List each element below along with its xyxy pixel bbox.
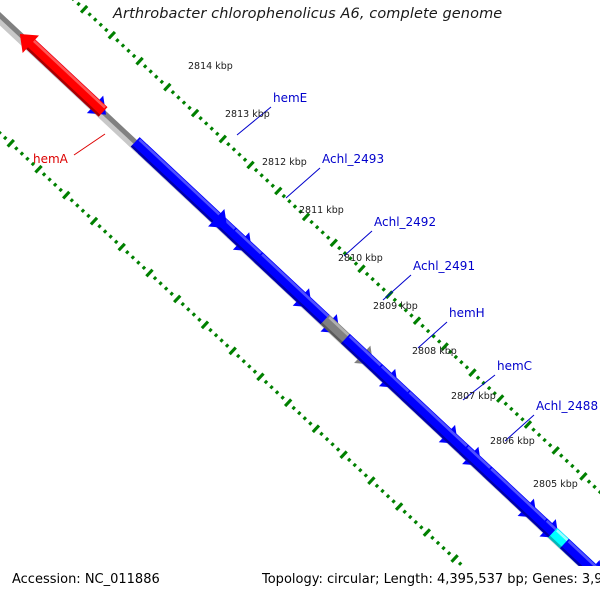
tick-minor — [294, 205, 296, 207]
tick-minor — [404, 511, 406, 513]
ruler-tick-label: 2811 kbp — [299, 205, 344, 216]
tick-minor — [165, 287, 167, 289]
tick-major — [424, 529, 430, 536]
ruler-tick-label: 2812 kbp — [262, 157, 307, 168]
tick-minor — [421, 325, 423, 327]
tick-minor — [270, 386, 272, 388]
tick-major — [396, 503, 402, 510]
tick-minor — [154, 277, 156, 279]
label-leader-line — [286, 168, 320, 198]
tick-major — [257, 374, 263, 381]
tick-minor — [21, 152, 23, 154]
tick-minor — [226, 344, 228, 346]
tick-minor — [105, 29, 107, 31]
gene-label-Achl_2491[interactable]: Achl_2491 — [413, 259, 475, 273]
tick-minor — [588, 480, 590, 482]
tick-minor — [182, 303, 184, 305]
tick-minor — [377, 283, 379, 285]
tick-major — [220, 136, 226, 143]
tick-minor — [366, 273, 368, 275]
tick-minor — [60, 189, 62, 191]
tick-minor — [87, 215, 89, 217]
tick-minor — [209, 329, 211, 331]
tick-minor — [172, 91, 174, 93]
tick-minor — [566, 460, 568, 462]
tick-minor — [409, 516, 411, 518]
tick-minor — [48, 178, 50, 180]
tick-minor — [215, 334, 217, 336]
tick-minor — [288, 200, 290, 202]
tick-minor — [532, 428, 534, 430]
tick-minor — [338, 247, 340, 249]
gene-arrow-shadow — [132, 146, 213, 222]
tick-minor — [466, 366, 468, 368]
ruler-tick-label: 2808 kbp — [412, 346, 457, 357]
tick-minor — [254, 370, 256, 372]
ruler-tick-label: 2805 kbp — [533, 479, 578, 490]
tick-minor — [331, 443, 333, 445]
tick-minor — [283, 195, 285, 197]
tick-minor — [337, 448, 339, 450]
tick-minor — [71, 199, 73, 201]
tick-major — [35, 166, 41, 173]
tick-minor — [238, 153, 240, 155]
tick-minor — [188, 107, 190, 109]
tick-minor — [260, 174, 262, 176]
tick-minor — [137, 261, 139, 263]
gene-name-labels[interactable]: hemAhemEAchl_2493Achl_2492Achl_2491hemHh… — [33, 91, 598, 413]
tick-minor — [144, 65, 146, 67]
tick-major — [164, 84, 170, 91]
status-bar: Accession: NC_011886 Topology: circular;… — [0, 568, 600, 600]
tick-major — [247, 162, 253, 169]
tick-minor — [376, 485, 378, 487]
tick-major — [497, 395, 503, 402]
tick-minor — [237, 355, 239, 357]
tick-minor — [227, 143, 229, 145]
tick-minor — [98, 225, 100, 227]
gene-arrow-shadow — [254, 261, 325, 327]
tick-minor — [420, 526, 422, 528]
tick-minor — [244, 159, 246, 161]
tick-minor — [216, 133, 218, 135]
tick-major — [109, 32, 115, 39]
tick-minor — [193, 313, 195, 315]
tick-minor — [265, 381, 267, 383]
tick-minor — [143, 267, 145, 269]
tick-minor — [266, 179, 268, 181]
genome-map-canvas[interactable]: 2814 kbp2813 kbp2812 kbp2811 kbp2810 kbp… — [0, 0, 600, 600]
tick-minor — [415, 521, 417, 523]
genome-stats-text: Topology: circular; Length: 4,395,537 bp… — [262, 572, 600, 587]
tick-major — [331, 240, 337, 247]
tick-major — [81, 6, 87, 13]
tick-major — [119, 244, 125, 251]
tick-minor — [310, 221, 312, 223]
tick-major — [137, 58, 143, 65]
tick-minor — [571, 465, 573, 467]
tick-minor — [82, 209, 84, 211]
tick-minor — [392, 500, 394, 502]
gene-arrow-highlight — [139, 140, 219, 215]
tick-minor — [272, 184, 274, 186]
tick-minor — [155, 75, 157, 77]
tick-minor — [437, 542, 439, 544]
tick-minor — [459, 562, 461, 564]
tick-minor — [521, 418, 523, 420]
tick-major — [146, 270, 152, 277]
tick-minor — [320, 433, 322, 435]
gene-label-Achl_2493[interactable]: Achl_2493 — [322, 152, 384, 166]
gene-arrow[interactable] — [131, 137, 227, 228]
tick-minor — [132, 256, 134, 258]
gene-label-Achl_2492[interactable]: Achl_2492 — [374, 215, 436, 229]
label-leader-line — [383, 275, 411, 300]
gene-label-hemA[interactable]: hemA — [33, 152, 69, 166]
tick-minor — [281, 396, 283, 398]
tick-major — [469, 369, 475, 376]
tick-minor — [322, 231, 324, 233]
ruler-tick-label: 2810 kbp — [338, 253, 383, 264]
gene-arrow-highlight — [262, 254, 332, 319]
tick-minor — [26, 158, 28, 160]
tick-minor — [488, 387, 490, 389]
tick-major — [452, 555, 458, 562]
label-leader-line — [74, 134, 105, 155]
tick-minor — [438, 340, 440, 342]
tick-minor — [477, 377, 479, 379]
tick-minor — [326, 438, 328, 440]
tick-minor — [505, 403, 507, 405]
gene-arrow[interactable] — [20, 34, 108, 117]
tick-minor — [220, 339, 222, 341]
tick-minor — [116, 39, 118, 41]
tick-major — [358, 265, 364, 272]
tick-minor — [365, 474, 367, 476]
tick-minor — [4, 137, 6, 139]
tick-minor — [560, 454, 562, 456]
tick-minor — [243, 360, 245, 362]
tick-major — [202, 322, 208, 329]
tick-minor — [159, 282, 161, 284]
tick-minor — [15, 147, 17, 149]
tick-minor — [133, 55, 135, 57]
tick-minor — [109, 235, 111, 237]
tick-minor — [383, 288, 385, 290]
tick-minor — [387, 495, 389, 497]
tick-minor — [538, 434, 540, 436]
tick-major — [313, 425, 319, 432]
tick-minor — [510, 408, 512, 410]
tick-major — [91, 218, 97, 225]
tick-minor — [577, 470, 579, 472]
tick-minor — [177, 96, 179, 98]
tick-minor — [199, 117, 201, 119]
tick-minor — [54, 184, 56, 186]
tick-minor — [43, 173, 45, 175]
tick-minor — [410, 314, 412, 316]
tick-minor — [298, 412, 300, 414]
tick-minor — [255, 169, 257, 171]
tick-minor — [233, 148, 235, 150]
tick-major — [63, 192, 69, 199]
tick-minor — [88, 13, 90, 15]
tick-minor — [127, 50, 129, 52]
tick-minor — [170, 293, 172, 295]
tick-minor — [211, 127, 213, 129]
tick-minor — [359, 469, 361, 471]
tick-minor — [354, 464, 356, 466]
ruler-tick-label: 2813 kbp — [225, 109, 270, 120]
ruler-tick-label: 2814 kbp — [188, 61, 233, 72]
tick-minor — [293, 407, 295, 409]
gene-label-hemC[interactable]: hemC — [497, 359, 532, 373]
tick-minor — [94, 18, 96, 20]
tick-minor — [76, 204, 78, 206]
gene-label-hemE[interactable]: hemE — [273, 91, 307, 105]
gene-label-hemH[interactable]: hemH — [449, 306, 485, 320]
tick-minor — [543, 439, 545, 441]
ruler-tick-label: 2809 kbp — [373, 301, 418, 312]
tick-minor — [161, 81, 163, 83]
tick-minor — [100, 24, 102, 26]
gene-feature-layer[interactable] — [0, 0, 600, 600]
tick-minor — [432, 335, 434, 337]
tick-minor — [150, 70, 152, 72]
tick-major — [192, 110, 198, 117]
tick-minor — [183, 101, 185, 103]
tick-minor — [0, 132, 1, 134]
tick-minor — [115, 241, 117, 243]
tick-minor — [327, 236, 329, 238]
tick-minor — [316, 226, 318, 228]
tick-major — [414, 317, 420, 324]
tick-minor — [348, 459, 350, 461]
tick-major — [368, 477, 374, 484]
genome-title: Arthrobacter chlorophenolicus A6, comple… — [113, 6, 502, 22]
ruler-tick-labels: 2814 kbp2813 kbp2812 kbp2811 kbp2810 kbp… — [188, 61, 578, 490]
tick-minor — [104, 230, 106, 232]
tick-minor — [304, 417, 306, 419]
tick-major — [285, 399, 291, 406]
accession-text: Accession: NC_011886 — [12, 572, 160, 587]
ruler-tick-label: 2807 kbp — [451, 391, 496, 402]
tick-minor — [309, 422, 311, 424]
tick-minor — [516, 413, 518, 415]
tick-minor — [205, 122, 207, 124]
tick-minor — [593, 486, 595, 488]
genome-map-viewer[interactable]: 2814 kbp2813 kbp2812 kbp2811 kbp2810 kbp… — [0, 0, 600, 600]
tick-minor — [276, 391, 278, 393]
tick-minor — [431, 536, 433, 538]
tick-major — [8, 140, 14, 147]
tick-major — [580, 473, 586, 480]
tick-minor — [198, 318, 200, 320]
tick-minor — [460, 361, 462, 363]
ruler-tick-label: 2806 kbp — [490, 436, 535, 447]
tick-minor — [448, 552, 450, 554]
tick-minor — [427, 330, 429, 332]
tick-major — [174, 296, 180, 303]
gene-arrow-shadow — [402, 399, 467, 460]
tick-minor — [549, 444, 551, 446]
tick-minor — [187, 308, 189, 310]
tick-major — [230, 348, 236, 355]
gene-label-Achl_2488[interactable]: Achl_2488 — [536, 399, 598, 413]
tick-major — [275, 188, 281, 195]
tick-minor — [248, 365, 250, 367]
tick-minor — [381, 490, 383, 492]
tick-major — [341, 451, 347, 458]
gene-arrow-highlight — [34, 41, 105, 108]
tick-minor — [442, 547, 444, 549]
tick-minor — [126, 251, 128, 253]
tick-minor — [371, 278, 373, 280]
tick-major — [553, 447, 559, 454]
tick-minor — [77, 3, 79, 5]
tick-minor — [122, 44, 124, 46]
gene-arrow-shadow — [27, 48, 99, 116]
